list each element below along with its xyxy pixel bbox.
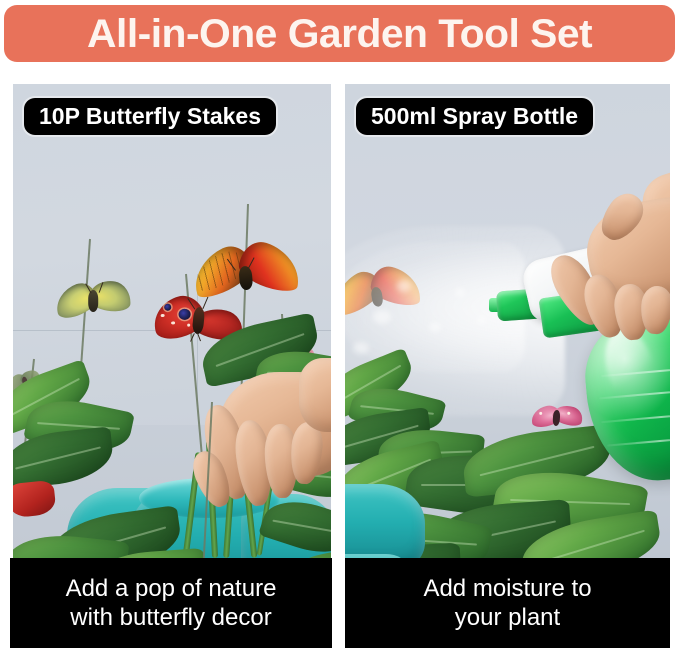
- caption-text: Add a pop of nature with butterfly decor: [60, 574, 283, 633]
- butterfly-orange-yellow: [190, 242, 304, 296]
- header-banner: All-in-One Garden Tool Set: [4, 5, 675, 62]
- butterfly-antenna: [202, 297, 208, 309]
- badge-spray-bottle: 500ml Spray Bottle: [356, 98, 593, 135]
- panel-butterfly-stakes: 10P Butterfly Stakes: [13, 84, 331, 558]
- mist-droplet: [353, 342, 369, 354]
- caption-line-2: with butterfly decor: [66, 603, 277, 632]
- photo-spray-bottle: [345, 84, 670, 558]
- badge-label: 500ml Spray Bottle: [371, 105, 578, 128]
- mist-droplet: [455, 288, 465, 297]
- badge-label: 10P Butterfly Stakes: [39, 105, 261, 128]
- spray-bottle: [495, 232, 670, 482]
- red-decoration: [13, 480, 57, 519]
- mist-droplet: [429, 322, 441, 332]
- mist-droplet: [477, 316, 486, 324]
- caption-butterfly-stakes: Add a pop of nature with butterfly decor: [10, 558, 332, 648]
- hand-gripping-bottle: [531, 196, 670, 366]
- caption-line-1: Add a pop of nature: [66, 574, 277, 603]
- mist-droplet: [397, 280, 411, 292]
- mist-droplet: [373, 310, 391, 324]
- badge-butterfly-stakes: 10P Butterfly Stakes: [24, 98, 276, 135]
- photo-butterfly-stakes: [13, 84, 331, 558]
- product-infographic: All-in-One Garden Tool Set: [0, 0, 679, 653]
- caption-spray-bottle: Add moisture to your plant: [345, 558, 670, 648]
- page-title: All-in-One Garden Tool Set: [87, 14, 592, 54]
- caption-line-2: your plant: [423, 603, 591, 632]
- butterfly-yellow-green: [54, 277, 134, 318]
- caption-text: Add moisture to your plant: [417, 574, 597, 633]
- panel-spray-bottle: 500ml Spray Bottle: [345, 84, 670, 558]
- hand-placing-stake: [189, 366, 331, 546]
- caption-line-1: Add moisture to: [423, 574, 591, 603]
- butterfly-leg: [190, 333, 195, 342]
